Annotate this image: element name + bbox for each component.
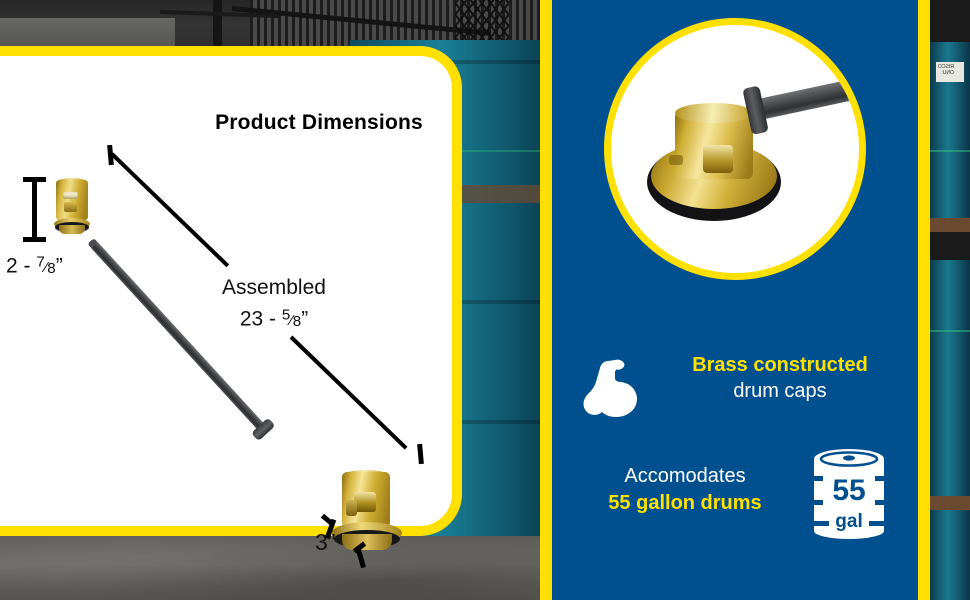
yellow-divider-right <box>918 0 930 600</box>
right-features-panel: Brass constructed drum caps Accomodates … <box>552 0 918 600</box>
page-title: Product Dimensions <box>184 111 454 135</box>
feature-drums-line1: Accomodates <box>570 463 800 490</box>
assembled-unit: ” <box>301 307 308 330</box>
dim-tick-top <box>23 177 46 182</box>
left-dimensions-panel: Product Dimensions 2 - 7⁄8” <box>0 0 540 600</box>
assembled-leader-lower <box>290 336 408 450</box>
assembled-tick-upper <box>107 145 114 165</box>
drum-value: 55 <box>832 474 865 507</box>
assembled-leader-upper <box>111 153 230 268</box>
oil-drum-icon: 55 gal <box>807 447 891 539</box>
feature-brass-text: Brass constructed drum caps <box>662 352 898 405</box>
feature-brass-line1: Brass constructed <box>662 352 898 378</box>
assembled-word: Assembled <box>184 274 364 302</box>
label-diameter: 3” <box>315 529 335 556</box>
flexed-bicep-icon <box>582 358 650 420</box>
assembled-tick-lower <box>417 444 424 464</box>
feature-drums-line2: 55 gallon drums <box>570 490 800 516</box>
assembled-denominator: 8 <box>293 313 301 330</box>
cap-height-denominator: 8 <box>47 260 55 277</box>
brass-cap-small-icon <box>54 178 90 234</box>
yellow-divider-middle <box>540 0 552 600</box>
drum-unit: gal <box>835 511 862 532</box>
steel-rod-photo <box>757 73 866 120</box>
warehouse-drums-photo: RISCOONU: <box>930 0 970 600</box>
cap-height-numerator: 7 <box>36 254 44 271</box>
feature-drums-text: Accomodates 55 gallon drums <box>570 463 800 516</box>
product-photo-circle <box>604 18 866 280</box>
label-cap-height: 2 - 7⁄8” <box>6 254 63 278</box>
assembled-numerator: 5 <box>282 307 290 324</box>
brass-cap-large-icon <box>332 470 402 556</box>
dim-bar-vertical <box>32 179 37 241</box>
assembled-value: 23 - <box>240 307 282 330</box>
cap-height-unit: ” <box>56 254 63 277</box>
cap-height-value: 2 - <box>6 254 36 277</box>
feature-brass-line2: drum caps <box>662 378 898 405</box>
infographic-canvas: Product Dimensions 2 - 7⁄8” <box>0 0 970 600</box>
label-assembled-length: Assembled 23 - 5⁄8” <box>184 274 364 336</box>
warehouse-floor <box>0 536 540 600</box>
dimensions-card: Product Dimensions 2 - 7⁄8” <box>0 46 462 536</box>
dim-tick-bottom <box>23 237 46 242</box>
